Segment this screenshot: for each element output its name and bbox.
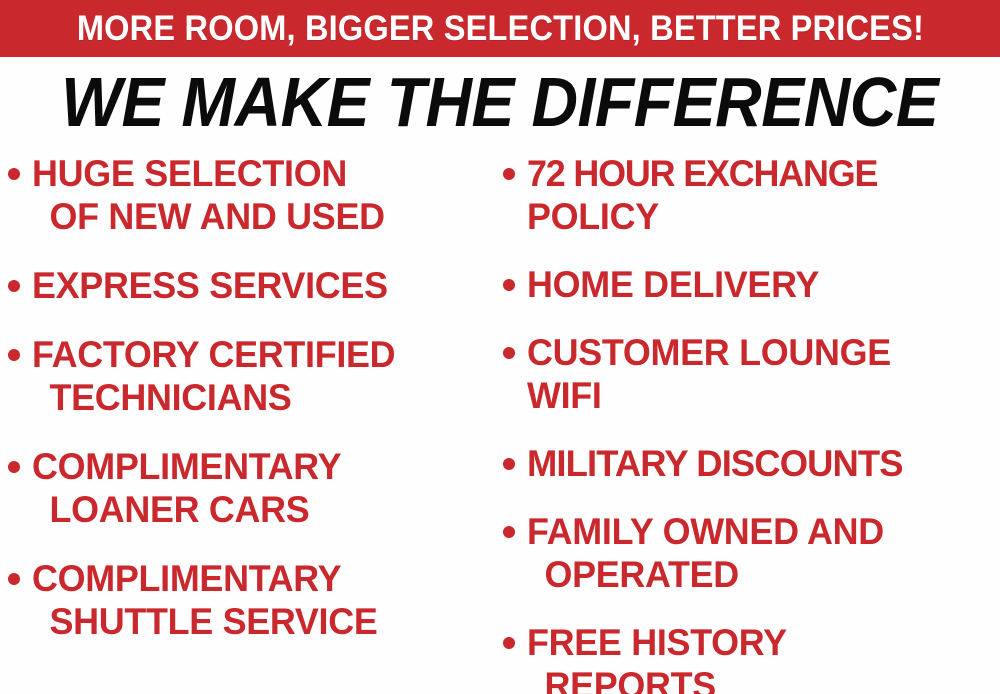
list-item-line-1: FREE HISTORY <box>527 621 986 664</box>
bullet-dot-icon <box>503 279 515 291</box>
list-item: FAMILY OWNED AND OPERATED <box>503 510 1000 596</box>
list-item-text: HUGE SELECTION OF NEW AND USED <box>32 152 500 238</box>
list-item-text: COMPLIMENTARY LOANER CARS <box>32 445 500 531</box>
list-item-text: FREE HISTORY REPORTS <box>527 621 1000 694</box>
list-item-line-1: EXPRESS SERVICES <box>32 264 486 307</box>
bullet-dot-icon <box>8 168 20 180</box>
bullet-dot-icon <box>8 573 20 585</box>
promo-poster: MORE ROOM, BIGGER SELECTION, BETTER PRIC… <box>0 0 1000 694</box>
list-item-line-1: HUGE SELECTION <box>32 152 486 195</box>
bullet-dot-icon <box>8 349 20 361</box>
list-item: FACTORY CERTIFIED TECHNICIANS <box>8 333 500 419</box>
list-item-line-1: FAMILY OWNED AND <box>527 510 986 553</box>
list-item: COMPLIMENTARY SHUTTLE SERVICE <box>8 557 500 643</box>
list-item-line-1: COMPLIMENTARY <box>32 445 486 488</box>
list-item-line-1: MILITARY DISCOUNTS <box>527 442 986 485</box>
bullet-dot-icon <box>8 461 20 473</box>
list-item: EXPRESS SERVICES <box>8 264 500 307</box>
top-banner: MORE ROOM, BIGGER SELECTION, BETTER PRIC… <box>0 0 1000 57</box>
list-item-text: HOME DELIVERY <box>527 263 1000 306</box>
bullet-dot-icon <box>503 168 515 180</box>
benefits-columns: HUGE SELECTION OF NEW AND USED EXPRESS S… <box>0 152 1000 694</box>
list-item: CUSTOMER LOUNGE WIFI <box>503 331 1000 417</box>
benefits-column-left: HUGE SELECTION OF NEW AND USED EXPRESS S… <box>8 152 500 669</box>
list-item-line-2: TECHNICIANS <box>32 376 486 419</box>
list-item-line-2: REPORTS <box>527 664 986 694</box>
page-title: WE MAKE THE DIFFERENCE <box>61 66 938 138</box>
list-item-text: MILITARY DISCOUNTS <box>527 442 1000 485</box>
list-item-line-1: 72 HOUR EXCHANGE <box>527 152 986 195</box>
list-item: FREE HISTORY REPORTS <box>503 621 1000 694</box>
list-item-text: EXPRESS SERVICES <box>32 264 500 307</box>
list-item-text: FACTORY CERTIFIED TECHNICIANS <box>32 333 500 419</box>
list-item-line-1: CUSTOMER LOUNGE <box>527 331 986 374</box>
bullet-dot-icon <box>503 347 515 359</box>
list-item: HUGE SELECTION OF NEW AND USED <box>8 152 500 238</box>
list-item-line-2: LOANER CARS <box>32 488 486 531</box>
list-item-text: CUSTOMER LOUNGE WIFI <box>527 331 1000 417</box>
list-item-line-2: OPERATED <box>527 553 986 596</box>
list-item-line-2: SHUTTLE SERVICE <box>32 600 486 643</box>
list-item-text: 72 HOUR EXCHANGE POLICY <box>527 152 1000 238</box>
list-item-text: FAMILY OWNED AND OPERATED <box>527 510 1000 596</box>
list-item: MILITARY DISCOUNTS <box>503 442 1000 485</box>
bullet-dot-icon <box>503 526 515 538</box>
top-banner-text: MORE ROOM, BIGGER SELECTION, BETTER PRIC… <box>76 11 923 47</box>
list-item: 72 HOUR EXCHANGE POLICY <box>503 152 1000 238</box>
list-item-text: COMPLIMENTARY SHUTTLE SERVICE <box>32 557 500 643</box>
list-item-line-1: HOME DELIVERY <box>527 263 986 306</box>
list-item-line-2: WIFI <box>527 374 986 417</box>
list-item: HOME DELIVERY <box>503 263 1000 306</box>
list-item-line-2: OF NEW AND USED <box>32 195 486 238</box>
list-item-line-1: FACTORY CERTIFIED <box>32 333 486 376</box>
headline-container: WE MAKE THE DIFFERENCE <box>0 66 1000 138</box>
list-item-line-2: POLICY <box>527 195 986 238</box>
bullet-dot-icon <box>8 280 20 292</box>
benefits-column-right: 72 HOUR EXCHANGE POLICY HOME DELIVERY CU… <box>503 152 1000 694</box>
list-item-line-1: COMPLIMENTARY <box>32 557 486 600</box>
bullet-dot-icon <box>503 637 515 649</box>
list-item: COMPLIMENTARY LOANER CARS <box>8 445 500 531</box>
bullet-dot-icon <box>503 458 515 470</box>
